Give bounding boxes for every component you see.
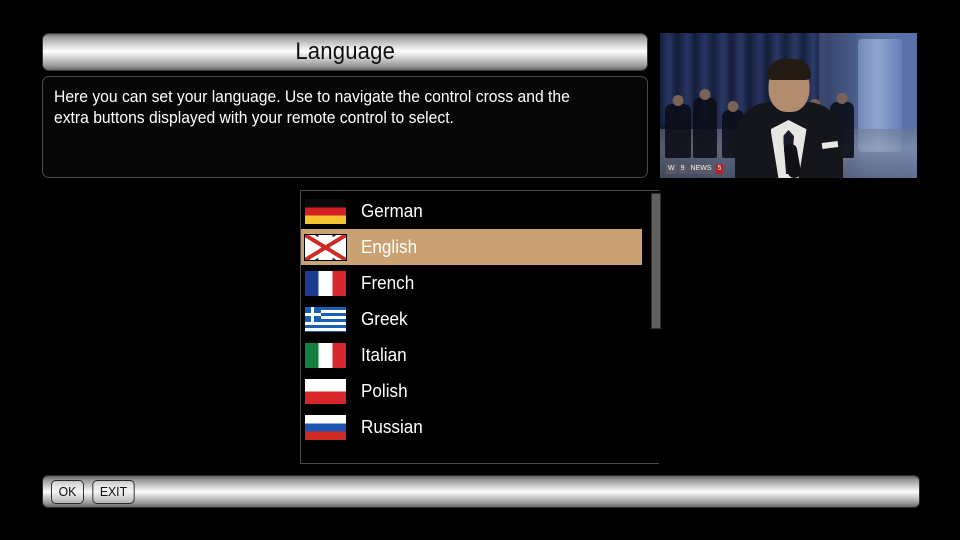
- flag-germany-icon: [304, 198, 347, 225]
- page-title: Language: [295, 38, 395, 66]
- language-list-item[interactable]: French: [301, 265, 642, 301]
- flag-france-icon: [304, 270, 347, 297]
- language-list-item[interactable]: Italian: [301, 337, 642, 373]
- language-list-item[interactable]: German: [301, 193, 642, 229]
- flag-greece-icon: [304, 306, 347, 333]
- settings-screen: Language Here you can set your language.…: [0, 0, 960, 540]
- flag-united-kingdom-icon: [304, 234, 347, 261]
- flag-italy-icon: [304, 342, 347, 369]
- language-label: Russian: [361, 417, 423, 438]
- channel-bug-part: NEWS: [689, 164, 714, 174]
- language-list-item[interactable]: Russian: [301, 409, 642, 445]
- language-list-item[interactable]: Greek: [301, 301, 642, 337]
- language-list-scrollbar[interactable]: [651, 191, 661, 463]
- language-list: GermanEnglishFrenchGreekItalianPolishRus…: [301, 193, 642, 445]
- language-label: German: [361, 201, 423, 222]
- live-tv-preview[interactable]: W 9 NEWS 5: [660, 33, 917, 178]
- help-text: Here you can set your language. Use to n…: [54, 87, 607, 129]
- ok-button[interactable]: OK: [51, 480, 84, 504]
- language-list-item[interactable]: Polish: [301, 373, 642, 409]
- language-label: Greek: [361, 309, 408, 330]
- language-label: Italian: [361, 345, 407, 366]
- language-list-panel: GermanEnglishFrenchGreekItalianPolishRus…: [300, 190, 659, 464]
- help-panel: Here you can set your language. Use to n…: [42, 76, 648, 178]
- flag-poland-icon: [304, 378, 347, 405]
- channel-bug-part: W: [666, 164, 677, 174]
- video-crowd-figure: [693, 98, 717, 158]
- language-list-item[interactable]: English: [301, 229, 642, 265]
- channel-bug-part: 5: [716, 164, 724, 174]
- flag-russia-icon: [304, 414, 347, 441]
- video-crowd-figure: [665, 104, 691, 158]
- channel-bug-part: 9: [679, 164, 687, 174]
- exit-button[interactable]: EXIT: [92, 480, 134, 504]
- page-title-bar: Language: [42, 33, 648, 71]
- language-label: Polish: [361, 381, 408, 402]
- video-reporter-hair: [767, 59, 811, 80]
- channel-logo-bug: W 9 NEWS 5: [666, 164, 723, 174]
- softkey-bar: OK EXIT: [42, 475, 920, 508]
- scrollbar-thumb[interactable]: [651, 193, 661, 329]
- language-label: French: [361, 273, 414, 294]
- language-label: English: [361, 237, 417, 258]
